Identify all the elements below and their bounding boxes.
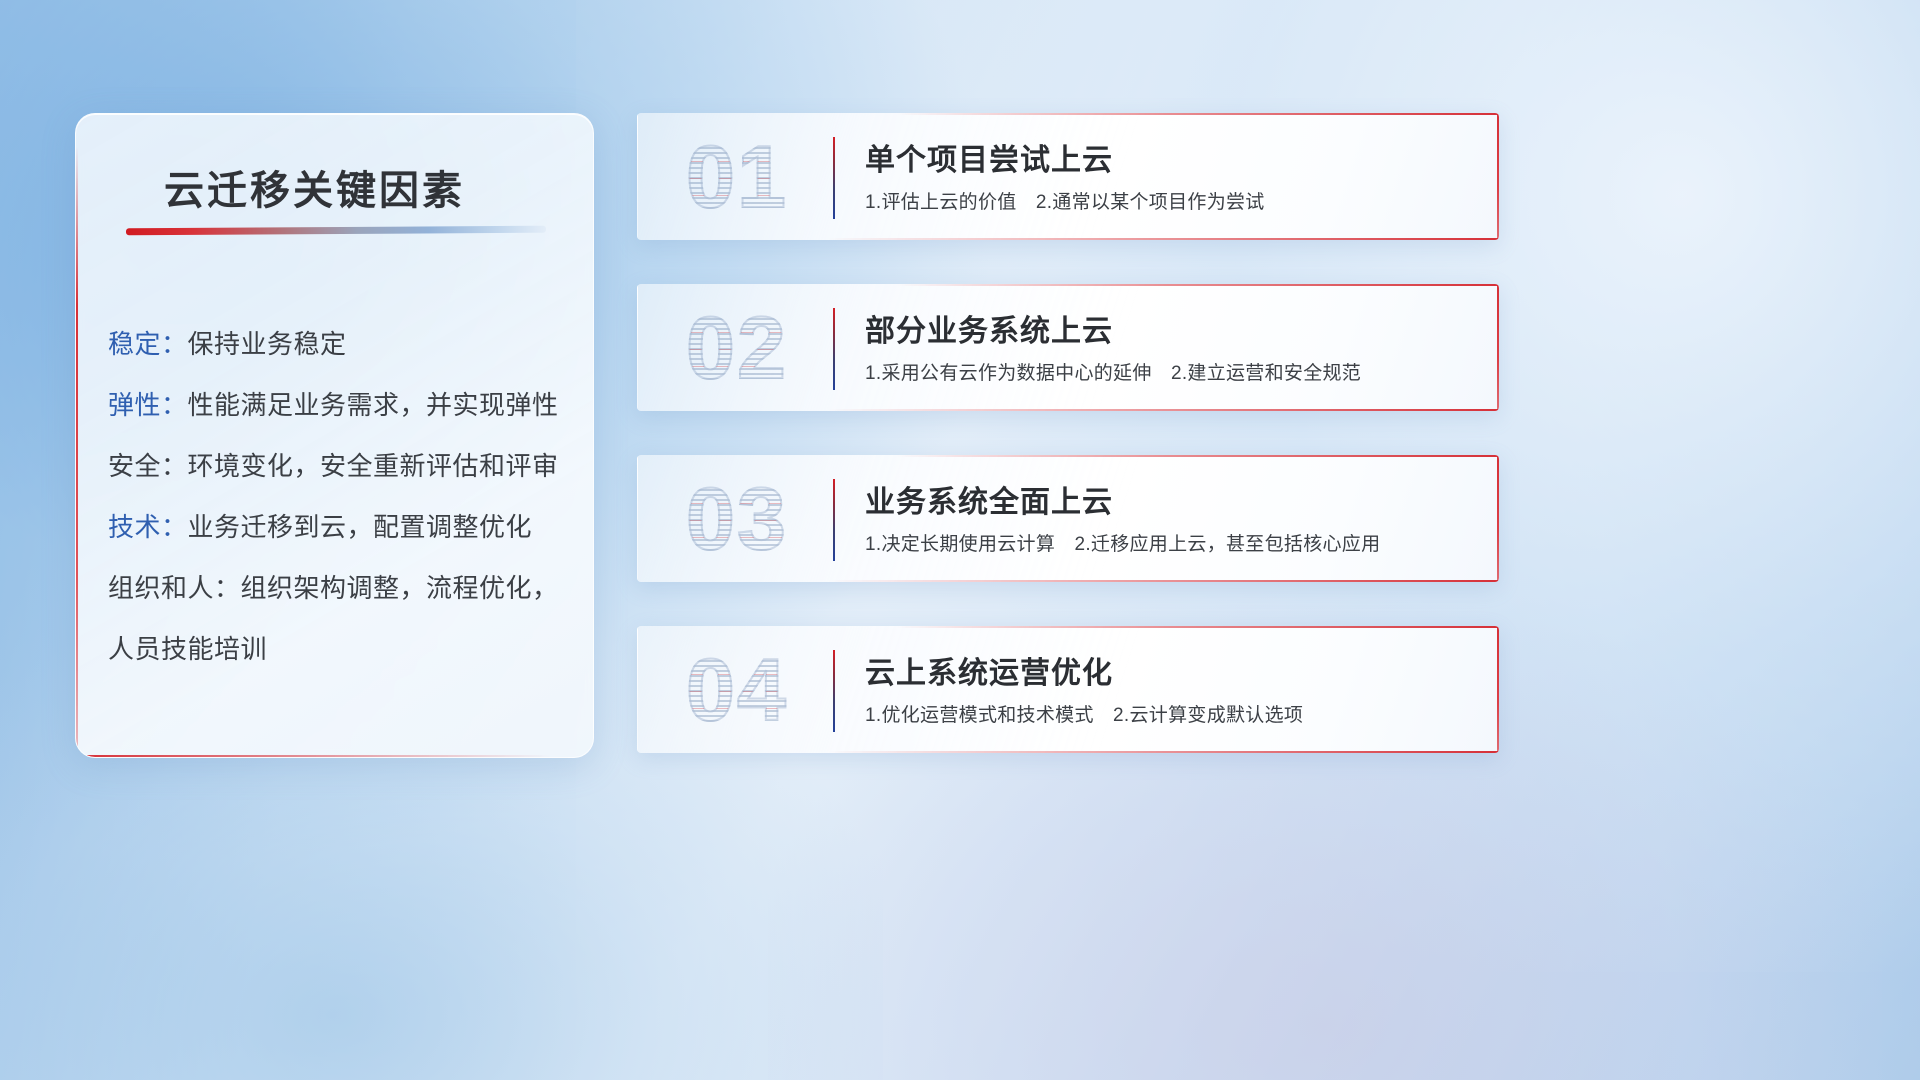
- card-bottom-accent-line: [827, 409, 1499, 411]
- card-description: 1.决定长期使用云计算 2.迁移应用上云，甚至包括核心应用: [865, 529, 1380, 556]
- list-item: 技术：业务迁移到云，配置调整优化: [108, 497, 573, 558]
- list-item: 稳定：保持业务稳定: [108, 314, 573, 375]
- list-item-text: 环境变化，安全重新评估和评审: [188, 451, 559, 481]
- stage-cards-list: 01 01 单个项目尝试上云 1.评估上云的价值 2.通常以某个项目作为尝试 0…: [637, 113, 1499, 797]
- card-heading: 部分业务系统上云: [865, 306, 1113, 350]
- list-item-key: 稳定：: [108, 329, 188, 359]
- list-item-key: 安全：: [108, 451, 188, 481]
- title-underline-gradient: [126, 226, 546, 236]
- card-bottom-accent-line: [827, 238, 1499, 240]
- stage-number-watermark-red: 03: [662, 469, 812, 569]
- card-heading: 业务系统全面上云: [865, 477, 1113, 521]
- list-item-text: 组织架构调整，流程优化，: [241, 573, 559, 603]
- card-right-accent-line: [1497, 455, 1499, 582]
- card-left-edge: [637, 626, 638, 753]
- list-item-text: 保持业务稳定: [188, 329, 347, 359]
- stage-card[interactable]: 01 01 单个项目尝试上云 1.评估上云的价值 2.通常以某个项目作为尝试: [637, 113, 1499, 240]
- card-right-accent-line: [1497, 626, 1499, 753]
- list-item: 弹性：性能满足业务需求，并实现弹性: [108, 375, 573, 436]
- card-right-accent-line: [1497, 284, 1499, 411]
- card-bottom-accent-line: [827, 580, 1499, 582]
- card-right-accent-line: [1497, 113, 1499, 240]
- list-item-key: 组织和人：: [108, 573, 241, 603]
- stage-number-watermark-red: 02: [662, 298, 812, 398]
- card-left-edge: [637, 113, 638, 240]
- card-bottom-accent-line: [827, 751, 1499, 753]
- stage-card[interactable]: 03 03 业务系统全面上云 1.决定长期使用云计算 2.迁移应用上云，甚至包括…: [637, 455, 1499, 582]
- card-left-edge: [637, 455, 638, 582]
- stage-card[interactable]: 04 04 云上系统运营优化 1.优化运营模式和技术模式 2.云计算变成默认选项: [637, 626, 1499, 753]
- key-factors-list: 稳定：保持业务稳定 弹性：性能满足业务需求，并实现弹性 安全：环境变化，安全重新…: [108, 314, 573, 680]
- list-item: 人员技能培训: [108, 619, 573, 680]
- list-item-key: 弹性：: [108, 390, 188, 420]
- list-item-text: 人员技能培训: [108, 634, 267, 664]
- list-item-key: 技术：: [108, 512, 188, 542]
- list-item: 组织和人：组织架构调整，流程优化，: [108, 558, 573, 619]
- card-top-accent-line: [896, 455, 1499, 457]
- card-divider-bar: [833, 479, 835, 561]
- card-heading: 云上系统运营优化: [865, 648, 1113, 692]
- stage-number-watermark-red: 04: [662, 640, 812, 740]
- card-description: 1.评估上云的价值 2.通常以某个项目作为尝试: [865, 187, 1265, 214]
- card-divider-bar: [833, 308, 835, 390]
- key-factors-panel: 云迁移关键因素 稳定：保持业务稳定 弹性：性能满足业务需求，并实现弹性 安全：环…: [75, 113, 594, 758]
- card-divider-bar: [833, 650, 835, 732]
- card-description: 1.采用公有云作为数据中心的延伸 2.建立运营和安全规范: [865, 358, 1361, 385]
- stage-number-watermark-red: 01: [662, 127, 812, 227]
- list-item: 安全：环境变化，安全重新评估和评审: [108, 436, 573, 497]
- list-item-text: 业务迁移到云，配置调整优化: [188, 512, 533, 542]
- page-title: 云迁移关键因素: [164, 158, 465, 216]
- stage-card[interactable]: 02 02 部分业务系统上云 1.采用公有云作为数据中心的延伸 2.建立运营和安…: [637, 284, 1499, 411]
- card-top-accent-line: [896, 113, 1499, 115]
- card-left-edge: [637, 284, 638, 411]
- card-top-accent-line: [896, 284, 1499, 286]
- card-heading: 单个项目尝试上云: [865, 135, 1113, 179]
- card-divider-bar: [833, 137, 835, 219]
- list-item-text: 性能满足业务需求，并实现弹性: [188, 390, 559, 420]
- card-top-accent-line: [896, 626, 1499, 628]
- card-description: 1.优化运营模式和技术模式 2.云计算变成默认选项: [865, 700, 1303, 727]
